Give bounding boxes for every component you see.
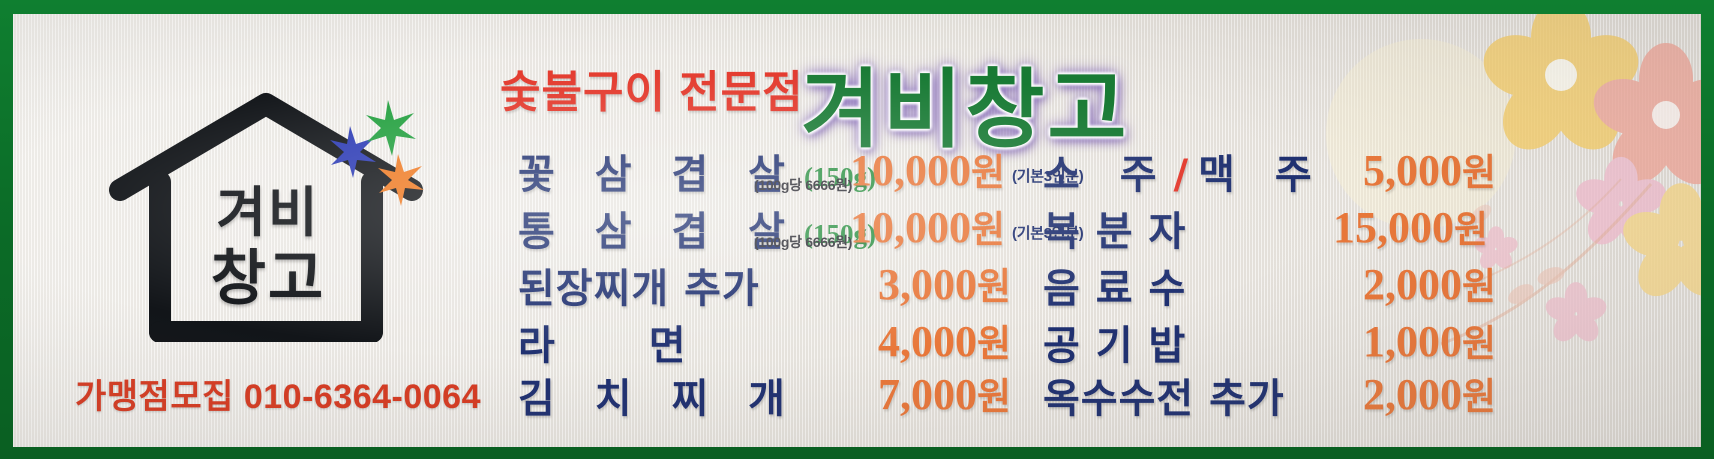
menu-item-currency: 원 bbox=[977, 313, 1011, 367]
franchise-phone: 가맹점모집 010-6364-0064 bbox=[75, 369, 481, 418]
house-logo: 겨비 창고 bbox=[98, 82, 438, 342]
menu-item-price: 4,000 bbox=[878, 316, 977, 367]
menu-item-price: 1,000 bbox=[1363, 316, 1462, 367]
menu-item-price: 2,000 bbox=[1363, 259, 1462, 310]
menu-item-unit-note: (100g당 6666원) bbox=[754, 232, 852, 252]
menu-item-currency: 원 bbox=[1454, 199, 1488, 253]
menu-item-price: 3,000 bbox=[878, 259, 977, 310]
menu-board: 겨비 창고 가맹점모집 010-6364-0064 숯불구이 전문점 겨비창고 … bbox=[13, 14, 1701, 447]
menu-item-currency: 원 bbox=[971, 199, 1005, 253]
menu-item-currency: 원 bbox=[977, 366, 1011, 420]
menu-item-price-block: 2,000 원 bbox=[1363, 366, 1496, 420]
menu-item-name: 라 면 bbox=[518, 313, 726, 371]
menu-item-price: 2,000 bbox=[1363, 369, 1462, 420]
menu-item-currency: 원 bbox=[1462, 366, 1496, 420]
sparkle-icon-green bbox=[366, 100, 416, 156]
menu-item-price: 10,000 bbox=[850, 145, 971, 196]
menu-item-name: 공 기 밥 bbox=[1043, 313, 1186, 371]
menu-row: 소 주 / 맥 주 5,000 원 bbox=[1043, 142, 1683, 191]
menu-item-name: 김 치 찌 개 bbox=[518, 366, 798, 424]
menu-item-currency: 원 bbox=[971, 142, 1005, 196]
menu-item-price-block: 15,000 원 bbox=[1333, 199, 1488, 253]
logo-line-2: 창고 bbox=[98, 230, 438, 317]
menu-item-price-block: 5,000 원 bbox=[1363, 142, 1496, 196]
menu-item-slash: / bbox=[1174, 152, 1189, 198]
menu-row: 옥수수전 추가 2,000 원 bbox=[1043, 366, 1683, 415]
menu-item-price-block: 7,000 원 bbox=[878, 366, 1011, 420]
menu-item-currency: 원 bbox=[1462, 313, 1496, 367]
menu-list: 꽃 삼 겹 살 (150g) (100g당 6666원) 10,000 원 (기… bbox=[518, 142, 1688, 404]
menu-item-name-a: 소 주 bbox=[1043, 142, 1170, 200]
menu-item-currency: 원 bbox=[977, 256, 1011, 310]
menu-row: 공 기 밥 1,000 원 bbox=[1043, 313, 1683, 362]
menu-item-currency: 원 bbox=[1462, 256, 1496, 310]
menu-item-name: 음 료 수 bbox=[1043, 256, 1186, 314]
menu-item-price: 7,000 bbox=[878, 369, 977, 420]
menu-item-price: 5,000 bbox=[1363, 145, 1462, 196]
menu-item-price: 10,000 bbox=[850, 202, 971, 253]
menu-item-price-block: 3,000 원 bbox=[878, 256, 1011, 310]
menu-item-name: 된장찌개 추가 bbox=[518, 256, 760, 314]
menu-item-price-block: 1,000 원 bbox=[1363, 313, 1496, 367]
menu-item-currency: 원 bbox=[1462, 142, 1496, 196]
menu-item-price: 15,000 bbox=[1333, 202, 1454, 253]
menu-item-price-block: 2,000 원 bbox=[1363, 256, 1496, 310]
menu-item-name: 복 분 자 bbox=[1043, 199, 1186, 257]
menu-item-unit-note: (100g당 6666원) bbox=[754, 175, 852, 195]
header-subtitle: 숯불구이 전문점 bbox=[500, 56, 804, 120]
menu-item-price-block: 4,000 원 bbox=[878, 313, 1011, 367]
restaurant-menu-sign: 겨비 창고 가맹점모집 010-6364-0064 숯불구이 전문점 겨비창고 … bbox=[0, 0, 1714, 459]
menu-row: 음 료 수 2,000 원 bbox=[1043, 256, 1683, 305]
menu-row: 복 분 자 15,000 원 bbox=[1043, 199, 1683, 248]
menu-item-name: 옥수수전 추가 bbox=[1043, 366, 1285, 424]
menu-item-name-b: 맥 주 bbox=[1198, 142, 1325, 200]
